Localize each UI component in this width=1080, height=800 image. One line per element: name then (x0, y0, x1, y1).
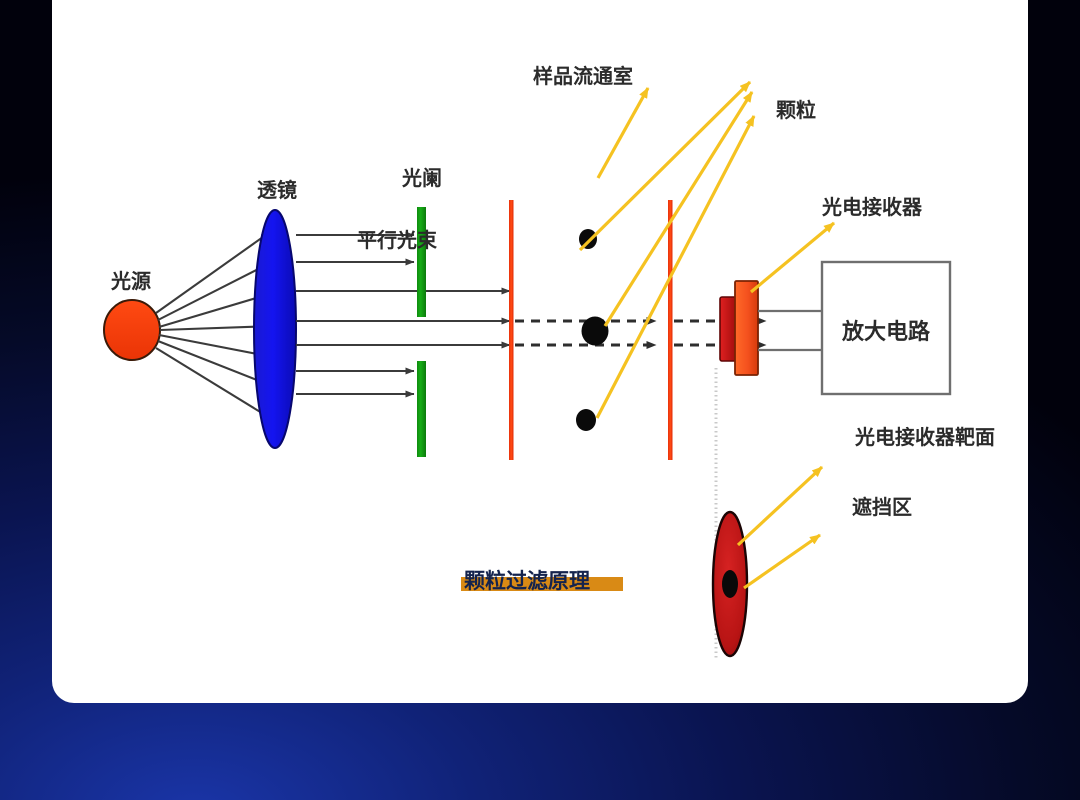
aperture-blade-upper (417, 207, 426, 317)
amplifier-circuit-box: 放大电路 (822, 262, 950, 394)
detector-body (735, 281, 758, 375)
leader-sample-flow-cell (598, 88, 648, 178)
blocked-zone-spot (722, 570, 738, 598)
ray-in-7 (156, 348, 270, 418)
diagram-title-group: 颗粒过滤原理 (461, 569, 623, 593)
diagram-title: 颗粒过滤原理 (464, 569, 590, 593)
label-receiver-target-surface: 光电接收器靶面 (854, 425, 995, 449)
particle-center (582, 317, 609, 346)
label-light-source: 光源 (110, 269, 151, 293)
amplifier-box-label: 放大电路 (841, 319, 931, 345)
label-particles: 颗粒 (776, 98, 816, 122)
parallel-beam-group (296, 235, 510, 394)
flow-cell-wall-right (668, 200, 673, 460)
label-parallel-beam: 平行光束 (357, 228, 438, 252)
photo-detector-group (720, 281, 758, 375)
particle-lower (576, 409, 596, 431)
slide-canvas: 放大电路 光源 透镜 平行光束 光阑 (0, 0, 1080, 800)
particle-upper (579, 229, 597, 249)
label-sample-flow-cell: 样品流通室 (533, 64, 633, 88)
flow-cell-wall-left (509, 200, 514, 460)
particle-filtration-diagram: 放大电路 光源 透镜 平行光束 光阑 (52, 0, 1028, 703)
leader-target-surface (738, 467, 822, 545)
light-source-lamp (104, 300, 160, 360)
label-lens: 透镜 (257, 178, 297, 202)
leader-blocked-zone (744, 535, 820, 588)
detector-wires-group (758, 311, 822, 350)
leader-particle-lower (597, 116, 754, 418)
lens-element (254, 210, 296, 448)
particles-group (576, 229, 609, 431)
leader-lines-group (580, 82, 834, 588)
label-blocked-zone: 遮挡区 (852, 495, 912, 519)
aperture-blade-lower (417, 361, 426, 457)
slide-white-panel: 放大电路 光源 透镜 平行光束 光阑 (52, 0, 1028, 703)
target-surface-group (713, 512, 747, 656)
label-aperture: 光阑 (401, 166, 442, 190)
light-source-group (104, 300, 160, 360)
label-photo-receiver: 光电接收器 (821, 195, 923, 219)
